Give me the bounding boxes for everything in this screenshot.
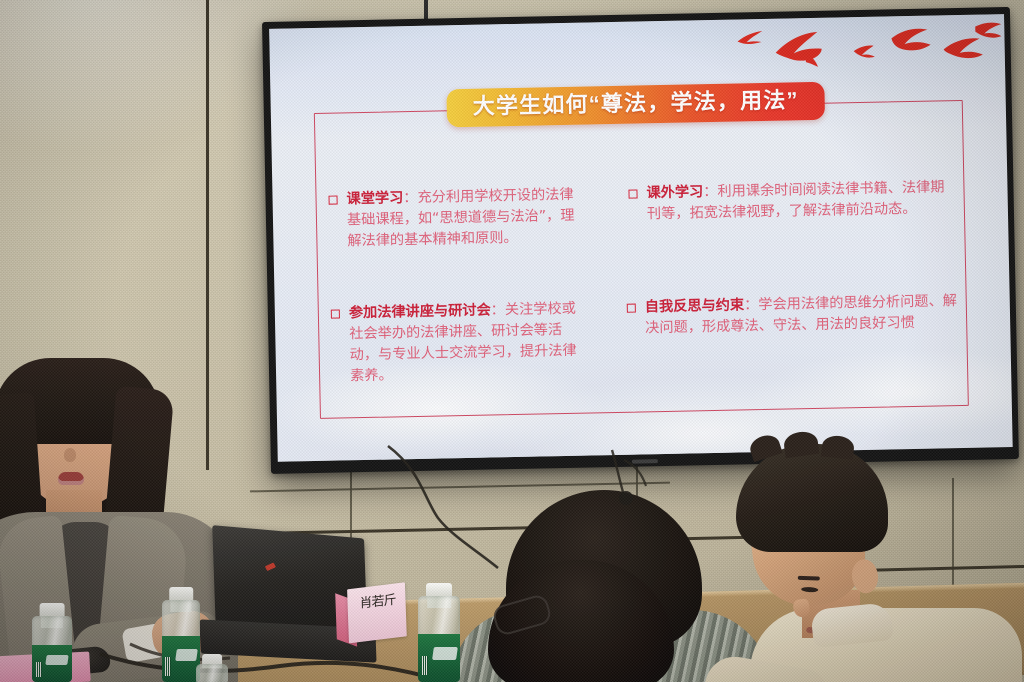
bullet-separator-3: ：: [491, 302, 506, 318]
bullet-text-1: 课堂学习：充分利用学校开设的法律基础课程，如“思想道德与法治”，理解法律的基本精…: [346, 185, 585, 252]
name-card-front: [347, 582, 407, 643]
eyebrow: [798, 576, 820, 581]
bullet-text-4: 自我反思与约束：学会用法律的思维分析问题、解决问题，形成尊法、守法、用法的良好习…: [645, 291, 962, 339]
presentation-display: 大学生如何“尊法，学法，用法” 课堂学习：充分利用学校开设的法律基础课程，如“思…: [262, 7, 1019, 474]
bullet-text-2: 课外学习：利用课余时间阅读法律书籍、法律期刊等，拓宽法律视野，了解法律前沿动态。: [646, 177, 959, 225]
bottle-label: [418, 634, 460, 682]
bottle-cap: [40, 603, 65, 617]
water-bottle[interactable]: [32, 616, 72, 682]
eye: [801, 587, 818, 593]
person-student-right: [716, 440, 1024, 682]
flying-birds-icon: [731, 18, 1010, 86]
bottle-body: [196, 664, 228, 682]
square-bullet-icon: [328, 196, 337, 205]
bottle-label: [162, 636, 200, 682]
laptop-logo-icon: [265, 562, 276, 571]
screenshot-root: 大学生如何“尊法，学法，用法” 课堂学习：充分利用学校开设的法律基础课程，如“思…: [0, 0, 1024, 682]
water-bottle[interactable]: [196, 664, 228, 682]
square-bullet-icon: [331, 309, 340, 318]
bullet-item-1: 课堂学习：充分利用学校开设的法律基础课程，如“思想道德与法治”，理解法律的基本精…: [328, 185, 585, 253]
bullet-separator-1: ：: [403, 190, 418, 206]
slide-canvas: 大学生如何“尊法，学法，用法” 课堂学习：充分利用学校开设的法律基础课程，如“思…: [269, 14, 1013, 462]
bottle-cap: [169, 587, 193, 601]
bullet-heading-4: 自我反思与约束: [645, 297, 745, 315]
slide-bullet-grid: 课堂学习：充分利用学校开设的法律基础课程，如“思想道德与法治”，理解法律的基本精…: [327, 133, 971, 401]
bottle-body: [418, 596, 460, 682]
bullet-item-4: 自我反思与约束：学会用法律的思维分析问题、解决问题，形成尊法、守法、用法的良好习…: [627, 291, 962, 339]
nose: [64, 448, 76, 462]
bullet-heading-1: 课堂学习: [346, 190, 403, 207]
bottle-body: [32, 616, 72, 682]
square-bullet-icon: [628, 189, 637, 198]
water-bottle[interactable]: [162, 600, 200, 682]
square-bullet-icon: [627, 304, 636, 313]
bullet-separator-4: ：: [744, 297, 759, 313]
bullet-separator-2: ：: [703, 184, 718, 200]
bottle-body: [162, 600, 200, 682]
bullet-heading-3: 参加法律讲座与研讨会: [349, 302, 491, 321]
slide-title-text: 大学生如何“尊法，学法，用法”: [473, 89, 799, 118]
cable-bundle-icon: [380, 440, 720, 580]
hair: [736, 444, 888, 552]
mouth: [58, 472, 84, 485]
bullet-heading-2: 课外学习: [646, 184, 703, 201]
bullet-item-3: 参加法律讲座与研讨会：关注学校或社会举办的法律讲座、研讨会等活动，与专业人士交流…: [331, 299, 589, 388]
bottle-label: [32, 645, 72, 682]
bottle-cap: [426, 583, 452, 597]
slide-title-banner: 大学生如何“尊法，学法，用法”: [446, 82, 825, 128]
bullet-item-2: 课外学习：利用课余时间阅读法律书籍、法律期刊等，拓宽法律视野，了解法律前沿动态。: [628, 177, 959, 225]
water-bottle[interactable]: [418, 596, 460, 682]
bullet-text-3: 参加法律讲座与研讨会：关注学校或社会举办的法律讲座、研讨会等活动，与专业人士交流…: [349, 299, 589, 387]
